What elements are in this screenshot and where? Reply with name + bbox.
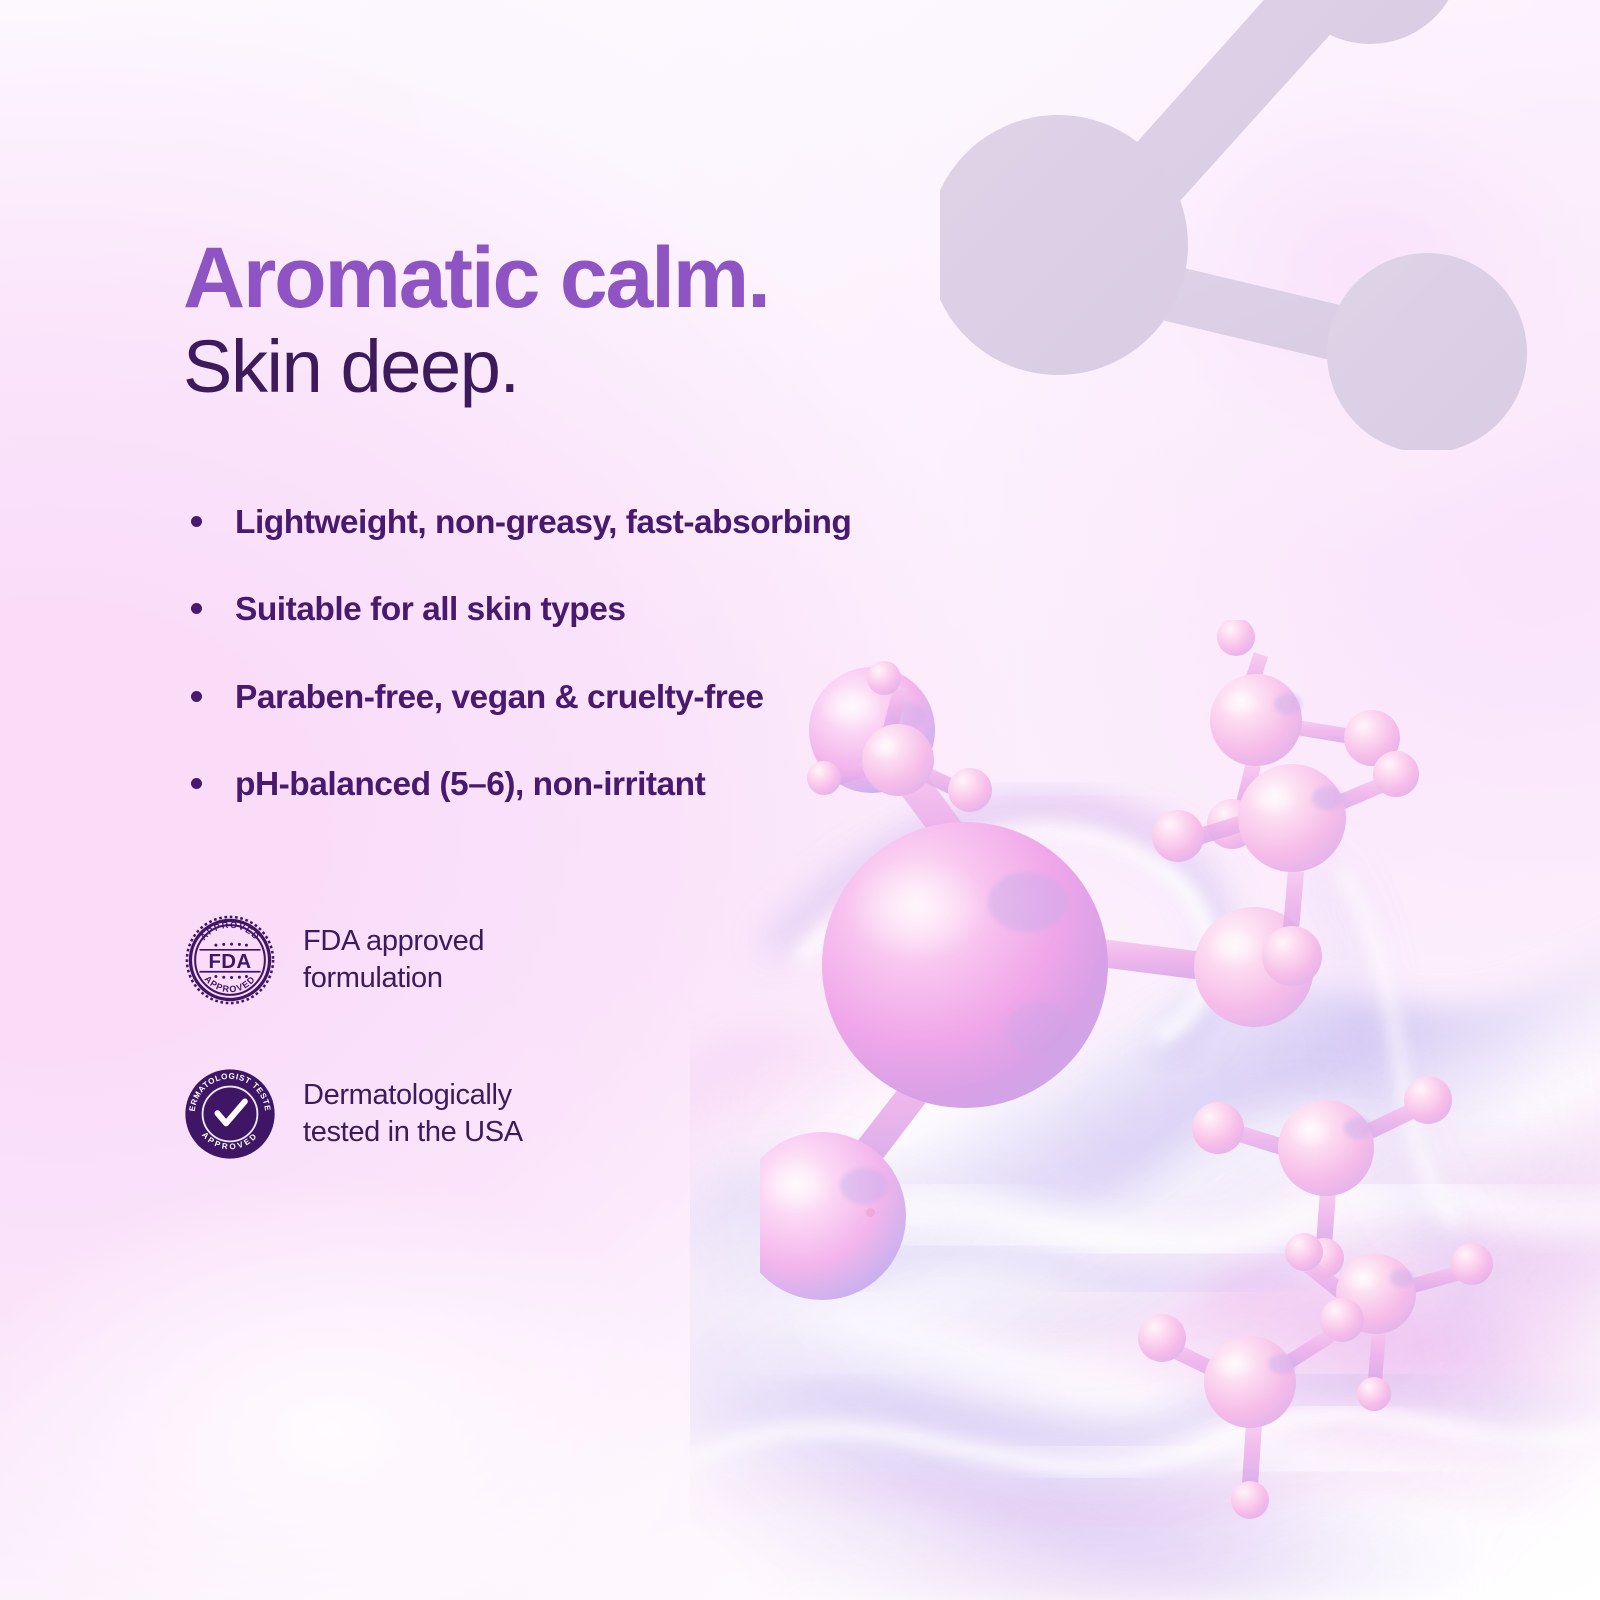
feature-list: Lightweight, non-greasy, fast-absorbing … [183, 503, 1060, 805]
fda-approved-stamp-icon: APPROVED APPROVED [183, 913, 277, 1007]
svg-text:APPROVED: APPROVED [203, 973, 258, 994]
list-item-label: pH-balanced (5–6), non-irritant [235, 766, 705, 803]
badge-dermatologist-tested: DERMATOLOGIST TESTED APPROVED Dermatolog… [183, 1067, 1060, 1161]
certification-badges: APPROVED APPROVED [183, 913, 1060, 1161]
list-item-label: Lightweight, non-greasy, fast-absorbing [235, 504, 851, 541]
fda-arc-bottom-label: APPROVED [203, 973, 258, 994]
badge-fda-approved: APPROVED APPROVED [183, 913, 1060, 1007]
list-item: Lightweight, non-greasy, fast-absorbing [183, 503, 1060, 543]
bullet-dot-icon [191, 778, 202, 789]
page-title: Aromatic calm. [183, 236, 1060, 321]
bullet-dot-icon [191, 603, 202, 614]
badge-label: Dermatologically tested in the USA [303, 1077, 523, 1151]
fda-center-label: FDA [208, 951, 251, 973]
list-item-label: Suitable for all skin types [235, 591, 625, 628]
list-item: Suitable for all skin types [183, 590, 1060, 630]
bullet-dot-icon [191, 691, 202, 702]
list-item: Paraben-free, vegan & cruelty-free [183, 678, 1060, 718]
dermatologist-tested-seal-icon: DERMATOLOGIST TESTED APPROVED [183, 1067, 277, 1161]
bullet-dot-icon [191, 516, 202, 527]
badge-label: FDA approved formulation [303, 923, 484, 997]
poster-canvas: Aromatic calm. Skin deep. Lightweight, n… [0, 0, 1600, 1600]
content-column: Aromatic calm. Skin deep. Lightweight, n… [0, 0, 1060, 1600]
list-item: pH-balanced (5–6), non-irritant [183, 765, 1060, 805]
page-subtitle: Skin deep. [183, 329, 1060, 404]
list-item-label: Paraben-free, vegan & cruelty-free [235, 679, 764, 716]
